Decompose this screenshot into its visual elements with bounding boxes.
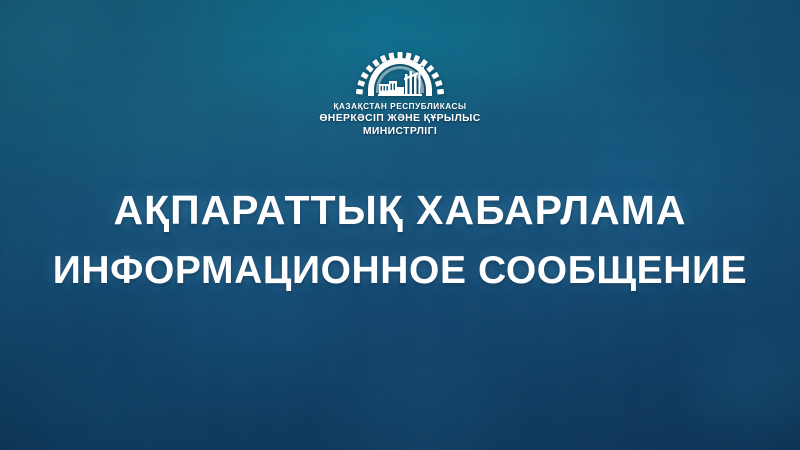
headline-block: АҚПАРАТТЫҚ ХАБАРЛАМА ИНФОРМАЦИОННОЕ СООБ… [0, 186, 800, 294]
ministry-gear-factory-emblem [342, 52, 458, 98]
ministry-emblem: ҚАЗАҚСТАН РЕСПУБЛИКАСЫ ӨНЕРКӘСІП ЖӘНЕ ҚҰ… [319, 52, 480, 138]
slide-content: ҚАЗАҚСТАН РЕСПУБЛИКАСЫ ӨНЕРКӘСІП ЖӘНЕ ҚҰ… [0, 0, 800, 450]
emblem-caption-line-1: ҚАЗАҚСТАН РЕСПУБЛИКАСЫ [319, 101, 480, 112]
headline-kazakh: АҚПАРАТТЫҚ ХАБАРЛАМА [0, 186, 800, 234]
headline-russian: ИНФОРМАЦИОННОЕ СООБЩЕНИЕ [0, 248, 800, 294]
emblem-caption: ҚАЗАҚСТАН РЕСПУБЛИКАСЫ ӨНЕРКӘСІП ЖӘНЕ ҚҰ… [319, 101, 480, 138]
emblem-caption-line-3: МИНИСТРЛІГІ [319, 125, 480, 138]
announcement-slide: ҚАЗАҚСТАН РЕСПУБЛИКАСЫ ӨНЕРКӘСІП ЖӘНЕ ҚҰ… [0, 0, 800, 450]
emblem-caption-line-2: ӨНЕРКӘСІП ЖӘНЕ ҚҰРЫЛЫС [319, 112, 480, 125]
